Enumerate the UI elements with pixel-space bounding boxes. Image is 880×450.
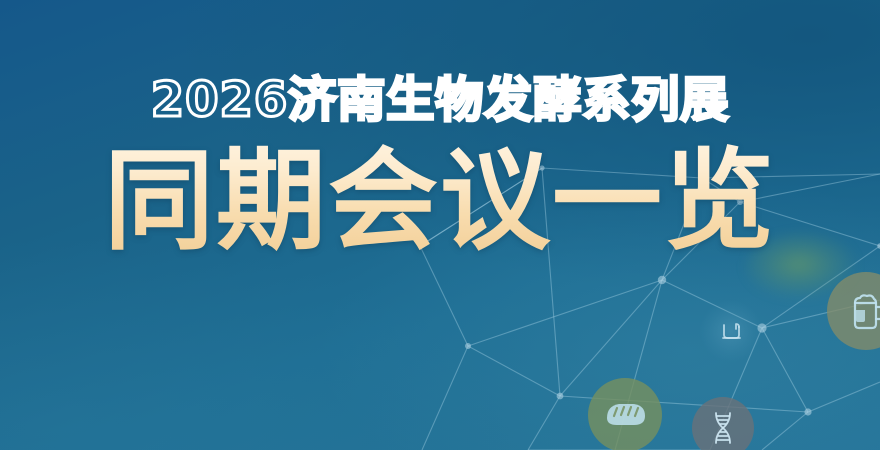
beer-mug-icon bbox=[846, 289, 880, 333]
dna-helix-icon bbox=[706, 409, 740, 447]
fermentation-tank-icon bbox=[715, 315, 747, 347]
headline-stack: 2026济南生物发酵系列展 同期会议一览 bbox=[0, 0, 880, 256]
bread-loaf-bubble bbox=[588, 378, 662, 450]
bread-loaf-icon bbox=[601, 398, 649, 432]
dna-helix-bubble bbox=[692, 397, 754, 450]
exhibition-subtitle: 2026济南生物发酵系列展 bbox=[0, 0, 880, 124]
conference-banner: 2026济南生物发酵系列展 同期会议一览 bbox=[0, 0, 880, 450]
fermentation-tank-bubble bbox=[700, 300, 762, 362]
page-title: 同期会议一览 bbox=[0, 124, 880, 256]
